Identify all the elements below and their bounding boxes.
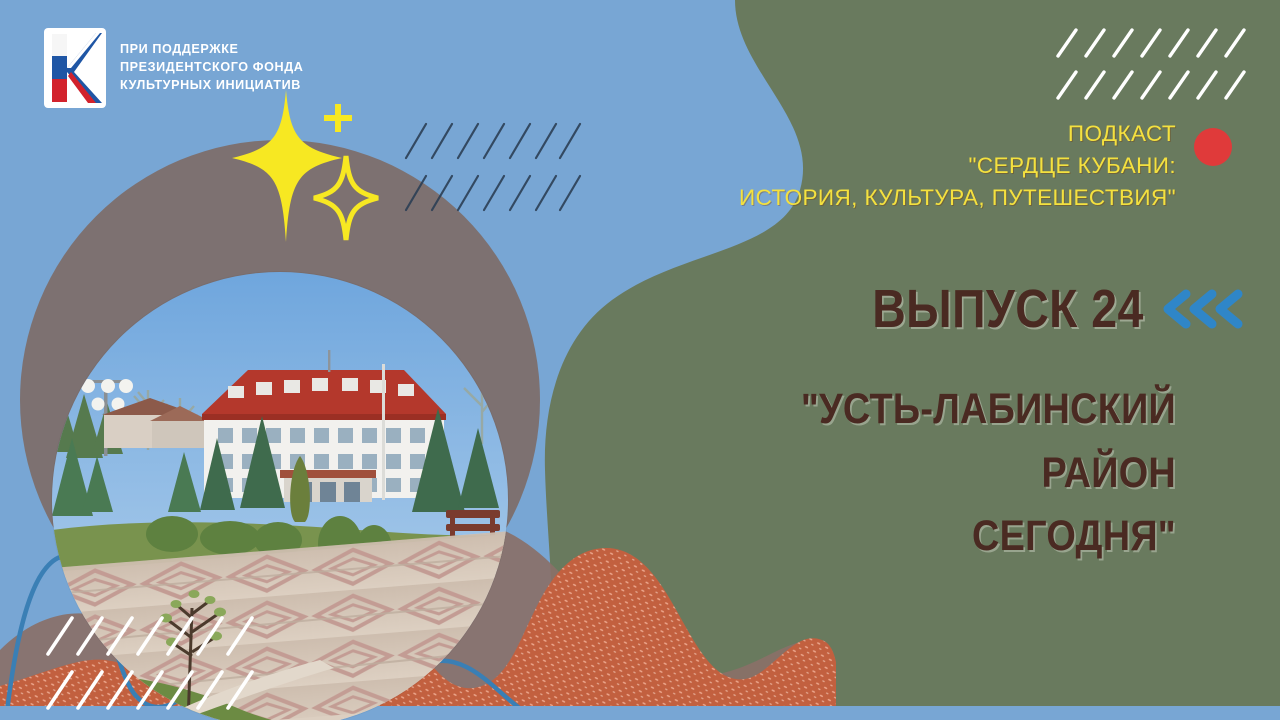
red-dot bbox=[1194, 128, 1232, 166]
slash-group-center bbox=[404, 118, 584, 218]
podcast-cover-canvas: ПРИ ПОДДЕРЖКЕ ПРЕЗИДЕНТСКОГО ФОНДА КУЛЬТ… bbox=[0, 0, 1280, 720]
four-point-star-filled bbox=[232, 90, 342, 242]
podcast-kicker-text: ПОДКАСТ "СЕРДЦЕ КУБАНИ: ИСТОРИЯ, КУЛЬТУР… bbox=[616, 118, 1176, 214]
slash-group-top-right bbox=[1056, 24, 1256, 104]
sparkle-cluster bbox=[228, 84, 418, 264]
episode-number-row: ВЫПУСК 24 bbox=[624, 282, 1244, 336]
triple-left-chevron-icon bbox=[1160, 287, 1244, 331]
president-fund-k-logo bbox=[44, 28, 106, 108]
episode-title-text: "УСТЬ-ЛАБИНСКИЙ РАЙОН СЕГОДНЯ" bbox=[683, 378, 1176, 569]
plus-sign bbox=[324, 104, 352, 132]
slash-group-bottom-left bbox=[46, 612, 266, 716]
four-point-star-outline bbox=[314, 156, 378, 240]
episode-number-label: ВЫПУСК 24 bbox=[872, 282, 1144, 336]
